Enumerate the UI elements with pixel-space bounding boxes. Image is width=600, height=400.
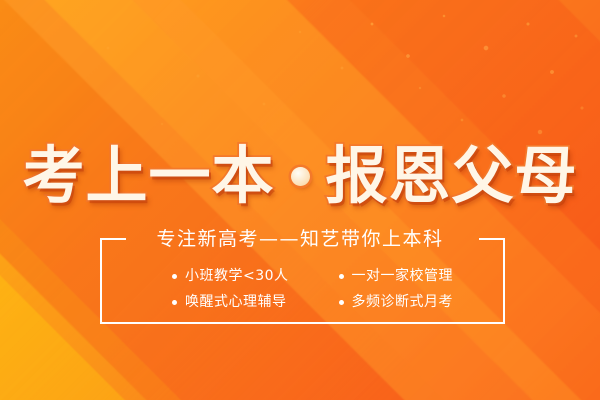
bullet-dot-icon	[172, 274, 177, 279]
headline-right-text: 报恩父母	[326, 145, 578, 207]
feature-item: 一对一家校管理	[339, 266, 506, 286]
headline-separator-dot-icon	[291, 167, 310, 186]
bullet-dot-icon	[172, 300, 177, 305]
promo-banner: 考上一本 报恩父母 专注新高考——知艺带你上本科 小班教学<30人 一对一家校管…	[0, 0, 600, 400]
feature-label: 多频诊断式月考	[352, 292, 454, 312]
headline-left-text: 考上一本	[22, 145, 274, 207]
headline: 考上一本 报恩父母	[0, 134, 600, 218]
feature-item: 多频诊断式月考	[339, 292, 506, 312]
feature-item: 小班教学<30人	[172, 266, 339, 286]
frame-bottom-edge	[100, 322, 505, 324]
bullet-dot-icon	[339, 300, 344, 305]
subtitle-text: 专注新高考——知艺带你上本科	[0, 228, 600, 250]
feature-item: 唤醒式心理辅导	[172, 292, 339, 312]
bullet-dot-icon	[339, 274, 344, 279]
feature-label: 小班教学<30人	[185, 266, 289, 286]
feature-list: 小班教学<30人 一对一家校管理 唤醒式心理辅导 多频诊断式月考	[100, 266, 505, 312]
feature-label: 一对一家校管理	[352, 266, 454, 286]
feature-label: 唤醒式心理辅导	[185, 292, 287, 312]
